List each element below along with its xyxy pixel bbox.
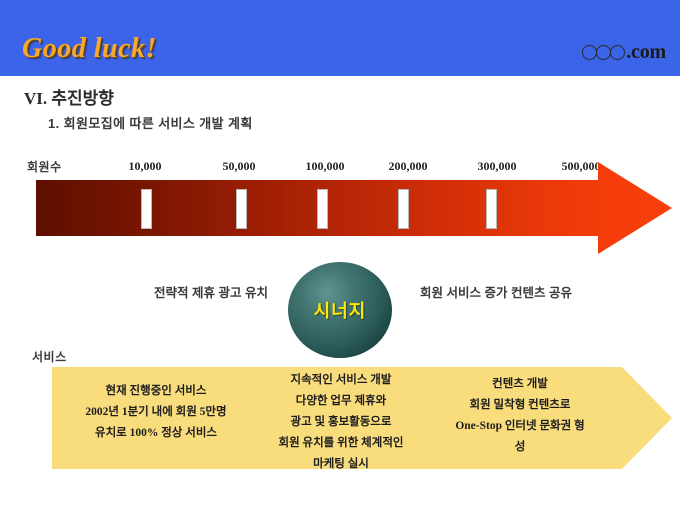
banner-line: 회원 유치를 위한 체계적인 <box>255 433 427 454</box>
logo-ring-icon <box>610 45 625 60</box>
banner-line: 유치로 100% 정상 서비스 <box>60 423 252 444</box>
axis-tick-mark <box>141 189 152 229</box>
banner-line: 다양한 업무 제휴와 <box>255 391 427 412</box>
page-subtitle: 1. 회원모집에 따른 서비스 개발 계획 <box>48 113 253 132</box>
axis-tick-mark <box>236 189 247 229</box>
axis-tick-mark <box>398 189 409 229</box>
presentation-slide: Good luck! .com VI. 추진방향 1. 회원모집에 따른 서비스… <box>0 0 680 510</box>
banner-line: 현재 진행중인 서비스 <box>60 381 252 402</box>
brand-wordmark: Good luck! <box>22 33 157 65</box>
banner-line: 회원 밀착형 컨텐츠로 <box>430 395 610 416</box>
banner-line: One-Stop 인터넷 문화권 형 <box>430 416 610 437</box>
axis-tick-mark <box>317 189 328 229</box>
note-right-line: 컨텐츠 공유 <box>511 286 572 300</box>
growth-arrow <box>36 162 672 254</box>
note-right: 회원 서비스 증가 컨텐츠 공유 <box>420 283 560 303</box>
banner-column-current-service: 현재 진행중인 서비스 2002년 1분기 내에 회원 5만명 유치로 100%… <box>60 381 252 444</box>
note-right-line: 증가 <box>484 286 507 300</box>
banner-line: 성 <box>430 437 610 458</box>
note-left-line: 광고 유치 <box>218 286 267 300</box>
banner-column-service-development: 지속적인 서비스 개발 다양한 업무 제휴와 광고 및 홍보활동으로 회원 유치… <box>255 370 427 475</box>
banner-line: 마케팅 실시 <box>255 454 427 475</box>
site-logo: .com <box>582 42 666 62</box>
note-left-line: 전략적 제휴 <box>154 286 215 300</box>
banner-line: 광고 및 홍보활동으로 <box>255 412 427 433</box>
banner-column-content-development: 컨텐츠 개발 회원 밀착형 컨텐츠로 One-Stop 인터넷 문화권 형 성 <box>430 374 610 458</box>
banner-line: 컨텐츠 개발 <box>430 374 610 395</box>
banner-line: 지속적인 서비스 개발 <box>255 370 427 391</box>
banner-line: 2002년 1분기 내에 회원 5만명 <box>60 402 252 423</box>
note-right-line: 회원 서비스 <box>420 286 481 300</box>
axis-label-service: 서비스 <box>32 348 67 365</box>
page-title: VI. 추진방향 <box>24 84 114 109</box>
axis-tick-mark <box>486 189 497 229</box>
note-left: 전략적 제휴 광고 유치 <box>150 283 272 303</box>
logo-ring-icon <box>582 45 597 60</box>
logo-ring-icon <box>596 45 611 60</box>
synergy-label: 시너지 <box>314 297 367 323</box>
logo-domain-suffix: .com <box>626 41 666 63</box>
synergy-sphere: 시너지 <box>288 262 392 358</box>
